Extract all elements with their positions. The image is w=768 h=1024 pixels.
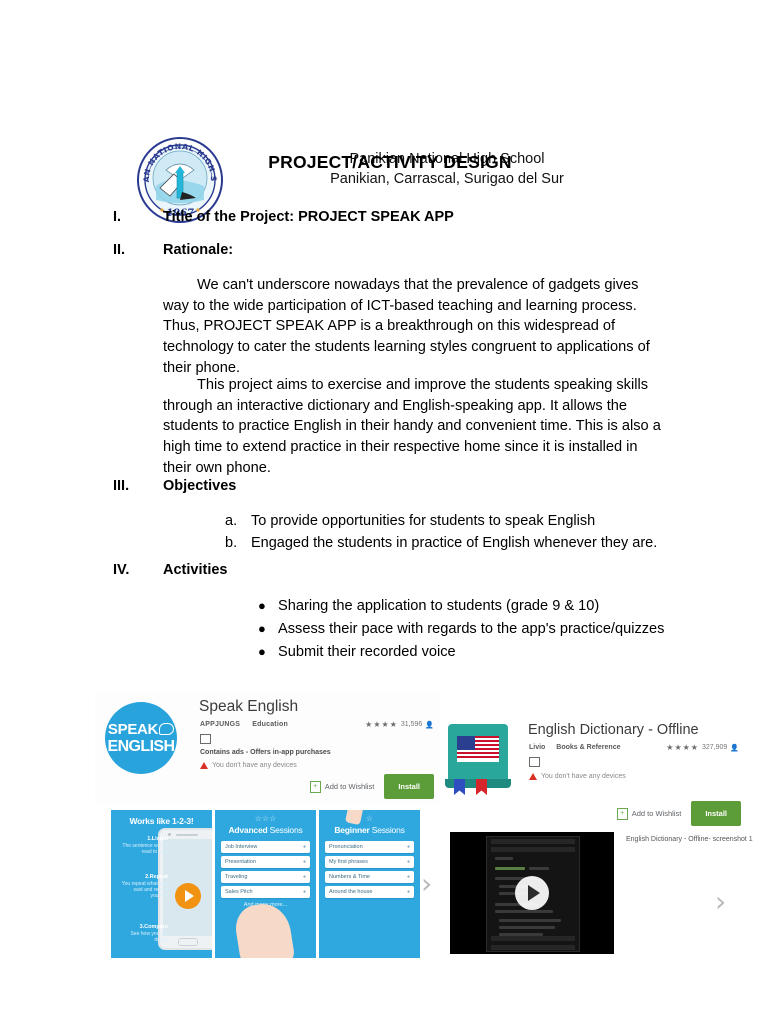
session-label: Presentation	[225, 859, 256, 865]
english-dictionary-title: English Dictionary - Offline	[528, 722, 699, 738]
panel-heading-thin: Sessions	[267, 825, 302, 835]
session-label: Job Interview	[225, 844, 257, 850]
session-icon: ●	[407, 874, 410, 880]
panel-heading-bold: Beginner	[334, 825, 369, 835]
speak-english-title: Speak English	[199, 698, 298, 716]
home-button-icon	[178, 938, 198, 946]
session-chip[interactable]: Presentation ●	[221, 856, 310, 868]
step-title: 3.Compare	[140, 924, 168, 930]
install-button[interactable]: Install	[384, 774, 434, 799]
embedded-appstore-screenshot: SPEAK ENGLISH Speak English APPJUNGS Edu…	[95, 692, 741, 960]
bullet-icon: ●	[258, 642, 266, 662]
carousel-next-arrow-icon[interactable]: ›	[421, 870, 432, 898]
session-chip[interactable]: Numbers & Time ●	[325, 871, 414, 883]
rationale-paragraph-1: We can't underscore nowadays that the pr…	[163, 275, 668, 379]
wishlist-label: Add to Wishlist	[325, 782, 375, 791]
promo-step: 3.Compare See how you are doing!	[116, 924, 168, 943]
list-item-text: To provide opportunities for students to…	[251, 513, 595, 529]
english-dictionary-meta: Livio Books & Reference	[529, 744, 621, 751]
list-item: ● Sharing the application to students (g…	[256, 596, 676, 618]
rationale-paragraph-2: This project aims to exercise and improv…	[163, 375, 668, 479]
content-rating-icon	[200, 734, 211, 744]
speak-english-actions: + Add to Wishlist Install	[310, 774, 434, 799]
star-rating-icon: ☆	[319, 814, 420, 823]
device-warning-text: You don't have any devices	[541, 773, 626, 780]
panel-heading-thin: Sessions	[370, 825, 405, 835]
app-icon-line1: SPEAK	[108, 722, 158, 737]
english-dictionary-rating: ★★★★ 327,909 👤	[666, 743, 739, 752]
section-label-objectives: Objectives	[163, 478, 236, 494]
session-icon: ●	[303, 889, 306, 895]
promo-panel-advanced-sessions[interactable]: ☆☆☆ Advanced Sessions Job Interview ● Pr…	[215, 810, 316, 958]
panel-heading: Advanced Sessions	[215, 825, 316, 835]
list-item: b. Engaged the students in practice of E…	[225, 533, 685, 555]
ads-note: Contains ads - Offers in-app purchases	[200, 749, 331, 756]
step-desc: You repeat what was said and record your…	[122, 881, 168, 900]
media-caption: English Dictionary - Offline- screenshot…	[626, 836, 753, 843]
bookmark-icon	[454, 779, 465, 795]
english-dictionary-actions: + Add to Wishlist Install	[617, 801, 741, 826]
session-chip[interactable]: Sales Pitch ●	[221, 886, 310, 898]
warning-icon	[529, 773, 537, 780]
promo-step: 2.Repeat You repeat what was said and re…	[116, 874, 168, 900]
section-label-rationale: Rationale:	[163, 242, 233, 258]
session-chip[interactable]: Job Interview ●	[221, 841, 310, 853]
session-icon: ●	[407, 844, 410, 850]
panel-heading: Works like 1-2-3!	[111, 816, 212, 826]
list-item-text: Sharing the application to students (gra…	[278, 598, 599, 614]
promo-step: 1.Listen The sentence will be read to yo…	[116, 836, 168, 855]
device-warning: You don't have any devices	[529, 773, 626, 780]
rating-count: 31,596	[401, 721, 422, 728]
speak-english-rating: ★★★★ 31,596 👤	[365, 720, 434, 729]
session-label: Numbers & Time	[329, 874, 370, 880]
activities-list: ● Sharing the application to students (g…	[256, 596, 676, 665]
list-item-text: Submit their recorded voice	[278, 644, 456, 660]
speak-english-screenshot-carousel[interactable]: Works like 1-2-3! 1.Listen The sentence …	[111, 810, 431, 958]
bullet-icon: ●	[258, 596, 266, 616]
app-category[interactable]: Education	[252, 721, 288, 728]
wishlist-icon: +	[310, 781, 321, 793]
session-icon: ●	[407, 889, 410, 895]
device-warning: You don't have any devices	[200, 762, 297, 769]
step-desc: See how you are doing!	[130, 931, 168, 943]
session-icon: ●	[407, 859, 410, 865]
document-page: 1967 PANIKIAN NATIONAL HIGH SCHOOL Panik…	[0, 0, 768, 1024]
developer-name[interactable]: APPJUNGS	[200, 721, 240, 728]
list-marker: a.	[225, 511, 237, 533]
section-numeral-i: I.	[113, 209, 121, 225]
session-label: Pronunciation	[329, 844, 363, 850]
page-title: PROJECT/ACTIVITY DESIGN	[130, 152, 650, 173]
speaker-icon	[176, 834, 198, 836]
english-dictionary-listing: English Dictionary - Offline Livio Books…	[448, 718, 741, 826]
warning-icon	[200, 762, 208, 769]
play-button-icon[interactable]	[515, 876, 549, 910]
session-label: Around the house	[329, 889, 372, 895]
list-item-text: Engaged the students in practice of Engl…	[251, 535, 657, 551]
app-category[interactable]: Books & Reference	[556, 744, 620, 751]
section-label-title-of-project: Title of the Project: PROJECT SPEAK APP	[163, 209, 454, 225]
list-item-text: Assess their pace with regards to the ap…	[278, 621, 664, 637]
list-marker: b.	[225, 533, 237, 555]
wishlist-label: Add to Wishlist	[632, 809, 682, 818]
install-button[interactable]: Install	[691, 801, 741, 826]
list-item: ● Assess their pace with regards to the …	[256, 619, 676, 641]
letterhead: 1967 PANIKIAN NATIONAL HIGH SCHOOL Panik…	[0, 66, 768, 166]
step-title: 2.Repeat	[145, 874, 168, 880]
english-dictionary-media: English Dictionary - Offline- screenshot…	[450, 832, 740, 958]
session-chip[interactable]: Traveling ●	[221, 871, 310, 883]
app-icon-line2: ENGLISH	[108, 739, 175, 755]
session-chip[interactable]: Around the house ●	[325, 886, 414, 898]
speech-bubble-icon	[159, 723, 174, 735]
step-desc: The sentence will be read to you!	[122, 843, 168, 855]
session-label: Traveling	[225, 874, 247, 880]
app-video-thumbnail[interactable]	[450, 832, 614, 954]
promo-panel-works-like[interactable]: Works like 1-2-3! 1.Listen The sentence …	[111, 810, 212, 958]
star-rating-icon: ☆☆☆	[215, 814, 316, 823]
panel-heading: Beginner Sessions	[319, 825, 420, 835]
person-icon: 👤	[730, 744, 739, 752]
english-dictionary-app-icon	[448, 724, 508, 788]
list-item: ● Submit their recorded voice	[256, 642, 676, 664]
star-rating-icon: ★★★★	[666, 743, 699, 752]
speak-english-meta: APPJUNGS Education	[200, 721, 288, 728]
rating-count: 327,909	[702, 744, 727, 751]
add-to-wishlist-button[interactable]: + Add to Wishlist	[617, 808, 682, 820]
step-title: 1.Listen	[147, 836, 168, 842]
add-to-wishlist-button[interactable]: + Add to Wishlist	[310, 781, 375, 793]
bullet-icon: ●	[258, 619, 266, 639]
us-flag-icon	[457, 736, 499, 762]
session-label: Sales Pitch	[225, 889, 253, 895]
developer-name[interactable]: Livio	[529, 744, 545, 751]
star-rating-icon: ★★★★	[365, 720, 398, 729]
session-label: My first phrases	[329, 859, 368, 865]
carousel-next-arrow-icon[interactable]: ›	[715, 888, 726, 916]
speak-english-app-icon: SPEAK ENGLISH	[105, 702, 177, 774]
hand-illustration	[232, 900, 295, 958]
person-icon: 👤	[425, 721, 434, 729]
bookmark-icon	[476, 779, 487, 795]
session-icon: ●	[303, 844, 306, 850]
section-label-activities: Activities	[163, 562, 227, 578]
section-numeral-ii: II.	[113, 242, 125, 258]
section-numeral-iv: IV.	[113, 562, 129, 578]
content-rating-icon	[529, 757, 540, 767]
session-chip[interactable]: My first phrases ●	[325, 856, 414, 868]
wishlist-icon: +	[617, 808, 628, 820]
play-button-icon	[175, 883, 201, 909]
speak-english-listing: SPEAK ENGLISH Speak English APPJUNGS Edu…	[95, 692, 440, 804]
section-numeral-iii: III.	[113, 478, 129, 494]
session-chip[interactable]: Pronunciation ●	[325, 841, 414, 853]
objectives-list: a. To provide opportunities for students…	[225, 511, 685, 555]
panel-heading-bold: Advanced	[228, 825, 267, 835]
session-icon: ●	[303, 859, 306, 865]
list-item: a. To provide opportunities for students…	[225, 511, 685, 533]
device-warning-text: You don't have any devices	[212, 762, 297, 769]
promo-panel-beginner-sessions[interactable]: ☆ Beginner Sessions Pronunciation ● My f…	[319, 810, 420, 958]
session-icon: ●	[303, 874, 306, 880]
camera-icon	[168, 833, 171, 836]
